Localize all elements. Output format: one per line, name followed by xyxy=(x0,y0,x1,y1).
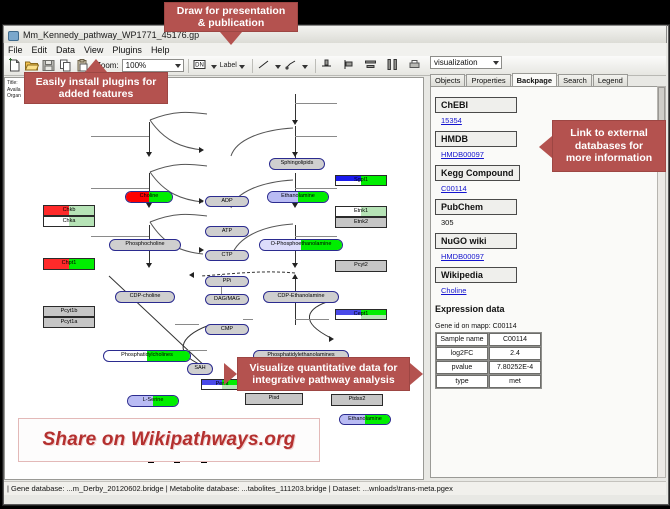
menu-data[interactable]: Data xyxy=(56,45,75,55)
arrowhead-ethanolamine-right xyxy=(329,336,334,342)
db-link-kegg[interactable]: C00114 xyxy=(441,184,651,193)
node-cdp-choline[interactable]: CDP-choline xyxy=(115,291,175,303)
node-chpt1[interactable]: Chpt1 xyxy=(43,258,95,270)
db-header-hmdb: HMDB xyxy=(435,131,517,147)
node-cept1[interactable]: Cept1 xyxy=(335,309,387,320)
cofactor-arcs-pchol xyxy=(145,162,215,216)
node-etnk1[interactable]: Etnk1 xyxy=(335,206,387,217)
save-icon[interactable] xyxy=(41,58,56,73)
expr-val-type: met xyxy=(489,375,541,388)
node-ethanolamine-right[interactable]: Ethanolamine xyxy=(339,414,391,425)
node-ethanolamine[interactable]: Ethanolamine xyxy=(267,191,329,203)
zoom-combo[interactable]: 100% xyxy=(122,59,184,72)
node-sah[interactable]: SAH xyxy=(187,363,213,375)
line-icon[interactable] xyxy=(257,58,272,73)
node-cdp-ethanolamine[interactable]: CDP-Ethanolamine xyxy=(263,291,339,303)
expr-key-pvalue: pvalue xyxy=(436,361,488,374)
arrowhead-pe-up xyxy=(292,274,298,279)
label-dropdown[interactable] xyxy=(238,59,245,73)
arrowhead-3 xyxy=(146,263,152,268)
node-adp[interactable]: ADP xyxy=(205,196,249,207)
db-value-pubchem: 305 xyxy=(441,218,651,227)
distribute-vertical-icon[interactable] xyxy=(364,58,379,73)
edge-sgpl1 xyxy=(295,103,337,104)
arrowhead-ppi xyxy=(199,198,204,204)
pathvisio-app-icon xyxy=(7,29,19,41)
table-row: log2FC 2.4 xyxy=(436,347,541,360)
edge-pisd-right xyxy=(303,319,329,320)
db-header-wikipedia: Wikipedia xyxy=(435,267,517,283)
menubar: File Edit Data View Plugins Help xyxy=(4,43,666,56)
node-etnk2[interactable]: Etnk2 xyxy=(335,217,387,228)
toolbar-sep-3 xyxy=(315,59,316,73)
arrowhead-1 xyxy=(146,152,152,157)
arrowhead-2 xyxy=(146,203,152,208)
node-l-serine-left[interactable]: L-Serine xyxy=(127,395,179,407)
callout-draw-for-publication: Draw for presentation & publication xyxy=(164,2,298,32)
edge-pcyt1-to-backbone xyxy=(91,236,149,237)
node-sgpl1[interactable]: Sgpl1 xyxy=(335,175,387,186)
visualization-combo[interactable]: visualization xyxy=(430,56,502,69)
callout-visualize-data: Visualize quantitative data for integrat… xyxy=(237,357,410,391)
align-left-icon[interactable] xyxy=(342,58,357,73)
tab-properties[interactable]: Properties xyxy=(466,74,510,87)
node-chka[interactable]: Chka xyxy=(43,216,95,227)
arrowhead-atp xyxy=(199,147,204,153)
table-row: Sample name C00114 xyxy=(436,333,541,346)
node-ctp[interactable]: CTP xyxy=(205,250,249,261)
expr-key-sample: Sample name xyxy=(436,333,488,346)
print-icon[interactable] xyxy=(408,58,423,73)
callout-share-wikipathways: Share on Wikipathways.org xyxy=(18,418,320,462)
node-pcyt2[interactable]: Pcyt2 xyxy=(335,260,387,272)
statusbar: | Gene database: ...m_Derby_20120602.bri… xyxy=(4,481,666,495)
statusbar-text: | Gene database: ...m_Derby_20120602.bri… xyxy=(7,484,453,493)
gene-id-on-mapp: Gene id on mapp: C00114 xyxy=(435,323,651,330)
node-phosphocholine[interactable]: Phosphocholine xyxy=(109,239,181,251)
node-pcyt1a[interactable]: Pcyt1a xyxy=(43,317,95,328)
node-dag-mag[interactable]: DAG/MAG xyxy=(205,294,249,305)
expr-val-log2fc: 2.4 xyxy=(489,347,541,360)
interaction-icon[interactable] xyxy=(284,58,299,73)
copy-icon[interactable] xyxy=(58,58,73,73)
node-phosphatidylcholines[interactable]: Phosphatidylcholines xyxy=(103,350,191,362)
arrowhead-4 xyxy=(292,120,298,125)
db-header-pubchem: PubChem xyxy=(435,199,517,215)
edge-cept1 xyxy=(295,236,337,237)
cofactor-arcs-choline xyxy=(145,108,215,164)
node-cmp[interactable]: CMP xyxy=(205,324,249,335)
node-ppi[interactable]: PPi xyxy=(205,276,249,287)
callout-install-plugins: Easily install plugins for added feature… xyxy=(24,72,168,104)
chevron-down-icon xyxy=(493,61,499,65)
callout-draw-arrow xyxy=(220,32,242,45)
node-chkb[interactable]: Chkb xyxy=(43,205,95,216)
arrowhead-cmp xyxy=(199,247,204,253)
edge-pcyt2 xyxy=(295,188,337,189)
menu-edit[interactable]: Edit xyxy=(32,45,48,55)
menu-plugins[interactable]: Plugins xyxy=(112,45,142,55)
backpage-tabstrip: Objects Properties Backpage Search Legen… xyxy=(430,72,662,86)
svg-text:DN: DN xyxy=(195,63,204,69)
menu-view[interactable]: View xyxy=(84,45,103,55)
datanode-dropdown[interactable] xyxy=(210,59,217,73)
line-dropdown[interactable] xyxy=(274,59,281,73)
menu-help[interactable]: Help xyxy=(151,45,170,55)
expr-val-sample: C00114 xyxy=(489,333,541,346)
align-top-icon[interactable] xyxy=(320,58,335,73)
callout-link-arrow xyxy=(539,136,552,158)
tab-legend[interactable]: Legend xyxy=(593,74,628,87)
tab-objects[interactable]: Objects xyxy=(430,74,465,87)
arrowhead-5 xyxy=(292,152,298,157)
tab-backpage[interactable]: Backpage xyxy=(512,73,557,88)
node-sphingolipids[interactable]: Sphingolipids xyxy=(269,158,325,170)
toolbar-sep-2 xyxy=(252,59,253,73)
new-file-icon[interactable] xyxy=(7,58,22,73)
node-pcyt1b[interactable]: Pcyt1b xyxy=(43,306,95,317)
db-header-kegg: Kegg Compound xyxy=(435,165,520,181)
db-link-nugowiki[interactable]: HMDB00097 xyxy=(441,252,651,261)
expr-val-pvalue: 7.80252E-4 xyxy=(489,361,541,374)
arrowhead-pemt xyxy=(189,272,194,278)
edge-lserine-left xyxy=(175,324,199,325)
distribute-horizontal-icon[interactable] xyxy=(386,58,401,73)
db-header-nugowiki: NuGO wiki xyxy=(435,233,517,249)
arc-adp-atp xyxy=(201,122,297,162)
visualization-value: visualization xyxy=(434,58,478,67)
callout-plugins-arrow xyxy=(85,59,107,72)
interaction-dropdown[interactable] xyxy=(301,59,308,73)
edge-chpt1-to-backbone xyxy=(91,188,149,189)
expression-data-title: Expression data xyxy=(435,304,651,314)
pathway-info-block: Title: Availa Organ xyxy=(7,80,21,100)
screenshot-root: Mm_Kennedy_pathway_WP1771_45176.gp File … xyxy=(0,0,670,509)
node-o-phosphoethanolamine[interactable]: O-Phosphoethanolamine xyxy=(259,239,343,251)
label-tool-label[interactable]: Label xyxy=(220,62,237,69)
open-folder-icon[interactable] xyxy=(24,58,39,73)
toolbar-sep-1 xyxy=(188,59,189,73)
expr-key-log2fc: log2FC xyxy=(436,347,488,360)
node-ptdss2[interactable]: Ptdss2 xyxy=(331,394,383,406)
node-choline[interactable]: Choline xyxy=(125,191,173,203)
edge-sphingo-to-etn xyxy=(295,94,296,122)
chevron-down-icon xyxy=(175,64,181,68)
menu-file[interactable]: File xyxy=(8,45,23,55)
table-row: pvalue 7.80252E-4 xyxy=(436,361,541,374)
node-pisd[interactable]: Pisd xyxy=(245,393,303,405)
callout-visualize-arrow-left xyxy=(224,363,237,385)
zoom-value: 100% xyxy=(126,61,146,70)
callout-visualize-arrow-right xyxy=(410,363,423,385)
node-atp[interactable]: ATP xyxy=(205,226,249,237)
edge-chk-to-backbone xyxy=(91,136,149,137)
share-text: Share on Wikipathways.org xyxy=(43,429,296,451)
window-titlebar[interactable]: Mm_Kennedy_pathway_WP1771_45176.gp xyxy=(3,25,667,43)
datanode-icon[interactable]: DN xyxy=(193,58,208,73)
edge-choline-to-pchol xyxy=(149,122,150,154)
arrowhead-7 xyxy=(292,263,298,268)
callout-external-links: Link to external databases for more info… xyxy=(552,120,666,172)
db-link-wikipedia[interactable]: Choline xyxy=(441,286,651,295)
pathway-info-organism: Organ xyxy=(7,93,21,100)
db-header-chebi: ChEBI xyxy=(435,97,517,113)
expression-table: Sample name C00114 log2FC 2.4 pvalue 7.8… xyxy=(435,332,542,389)
edge-pisd-left xyxy=(243,319,253,320)
arrowhead-6 xyxy=(292,203,298,208)
expr-key-type: type xyxy=(436,375,488,388)
table-row: type met xyxy=(436,375,541,388)
tab-search[interactable]: Search xyxy=(558,74,592,87)
edge-etnk xyxy=(295,136,337,137)
